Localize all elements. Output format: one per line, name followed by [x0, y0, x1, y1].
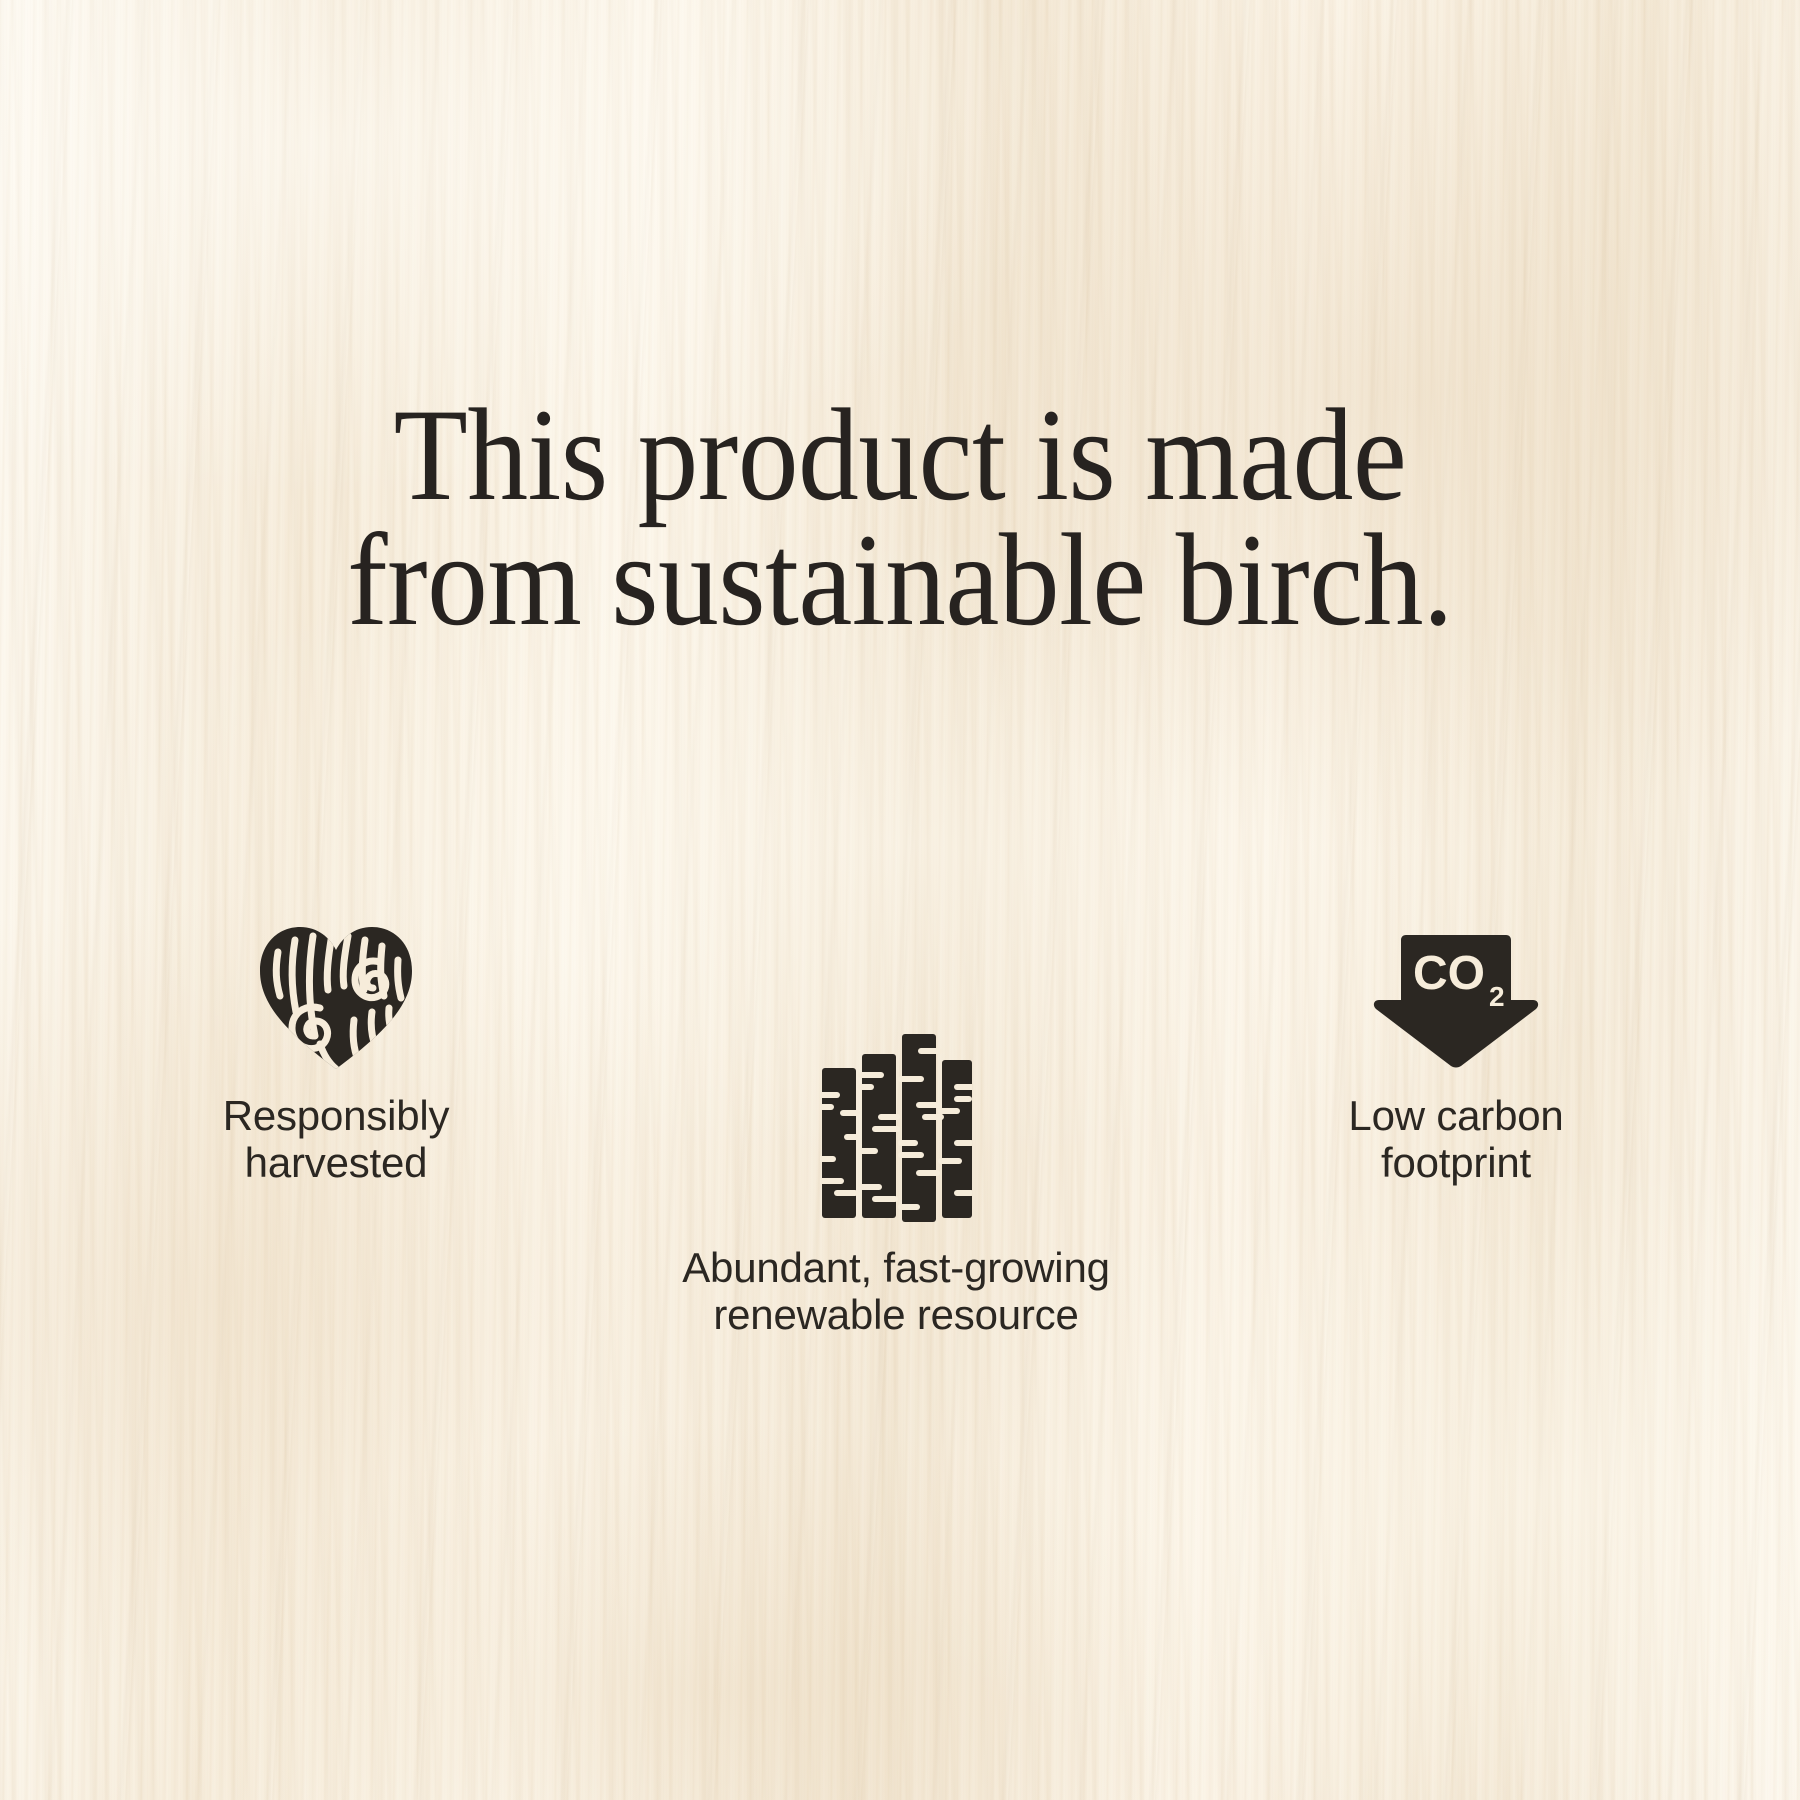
feature-caption: Responsibly harvested	[136, 1092, 536, 1186]
icon-container: CO 2	[1256, 900, 1656, 1070]
feature-caption: Low carbon footprint	[1256, 1092, 1656, 1186]
icon-container	[636, 1022, 1156, 1222]
page-title: This product is made from sustainable bi…	[72, 392, 1728, 643]
feature-list: Responsibly harvested	[96, 900, 1704, 1320]
feature-caption: Abundant, fast-growing renewable resourc…	[636, 1244, 1156, 1338]
feature-low-carbon-footprint: CO 2 Low carbon footprint	[1256, 900, 1656, 1186]
co2-down-arrow-icon: CO 2	[1373, 934, 1539, 1070]
birch-trunks-icon	[820, 1034, 972, 1222]
feature-renewable-resource: Abundant, fast-growing renewable resourc…	[636, 1022, 1156, 1338]
wood-grain-heart-icon	[258, 924, 414, 1070]
sustainable-birch-poster: This product is made from sustainable bi…	[0, 0, 1800, 1800]
feature-responsibly-harvested: Responsibly harvested	[136, 900, 536, 1186]
icon-container	[136, 900, 536, 1070]
co2-label: CO	[1413, 947, 1485, 1000]
co2-subscript: 2	[1489, 981, 1505, 1012]
